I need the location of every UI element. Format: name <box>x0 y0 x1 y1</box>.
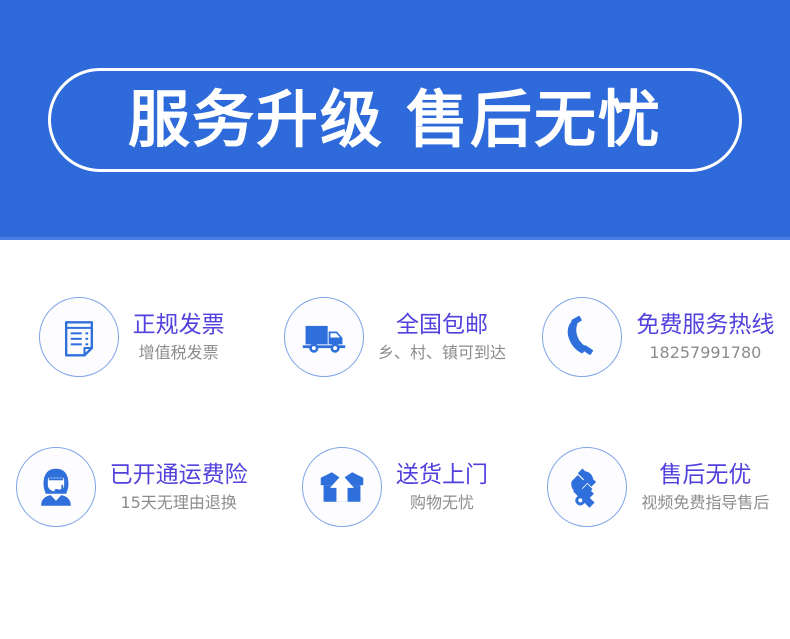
feature-text-block: 全国包邮 乡、村、镇可到达 <box>378 312 506 362</box>
feature-title: 送货上门 <box>396 462 488 488</box>
icon-circle <box>39 297 119 377</box>
customer-service-agent-icon <box>33 464 79 510</box>
feature-item-free-shipping: 全国包邮 乡、村、镇可到达 <box>263 262 526 412</box>
feature-title: 已开通运费险 <box>110 462 248 488</box>
feature-subtitle: 购物无忧 <box>410 493 474 512</box>
feature-title: 全国包邮 <box>396 312 488 338</box>
feature-text-block: 送货上门 购物无忧 <box>396 462 488 512</box>
feature-subtitle: 乡、村、镇可到达 <box>378 343 506 362</box>
feature-title: 免费服务热线 <box>636 312 774 338</box>
feature-item-invoice: 正规发票 增值税发票 <box>0 262 263 412</box>
feature-title: 正规发票 <box>133 312 225 338</box>
icon-circle <box>547 447 627 527</box>
feature-subtitle: 15天无理由退换 <box>120 493 236 512</box>
banner-bottom-rule <box>0 237 790 240</box>
banner-title-part1: 服务升级 <box>128 83 384 156</box>
delivery-truck-icon <box>300 315 348 359</box>
feature-text-block: 正规发票 增值税发票 <box>133 312 225 362</box>
icon-circle <box>302 447 382 527</box>
telephone-icon <box>560 315 604 359</box>
feature-subtitle: 视频免费指导售后 <box>641 493 769 512</box>
icon-circle <box>542 297 622 377</box>
feature-item-door-delivery: 送货上门 购物无忧 <box>263 412 526 562</box>
service-feature-grid: 正规发票 增值税发票 全国包邮 乡、村、镇可到达 <box>0 240 790 560</box>
feature-item-shipping-insurance: 已开通运费险 15天无理由退换 <box>0 412 263 562</box>
banner-title-part2: 售后无忧 <box>406 83 662 156</box>
feature-text-block: 售后无优 视频免费指导售后 <box>641 462 769 512</box>
wrench-screwdriver-icon <box>564 464 610 510</box>
banner-pill-frame: 服务升级售后无忧 <box>48 68 742 172</box>
feature-title: 售后无优 <box>659 462 751 488</box>
feature-item-after-sales: 售后无优 视频免费指导售后 <box>527 412 790 562</box>
feature-subtitle: 增值税发票 <box>139 343 219 362</box>
open-box-arrow-icon <box>318 466 366 508</box>
footer-whitespace <box>0 560 790 639</box>
promo-banner: 服务升级售后无忧 <box>0 0 790 240</box>
icon-circle <box>16 447 96 527</box>
feature-text-block: 已开通运费险 15天无理由退换 <box>110 462 248 512</box>
feature-subtitle: 18257991780 <box>649 343 761 362</box>
invoice-document-icon <box>57 315 101 359</box>
icon-circle <box>284 297 364 377</box>
banner-title: 服务升级售后无忧 <box>128 89 662 151</box>
feature-text-block: 免费服务热线 18257991780 <box>636 312 774 362</box>
feature-item-hotline: 免费服务热线 18257991780 <box>527 262 790 412</box>
